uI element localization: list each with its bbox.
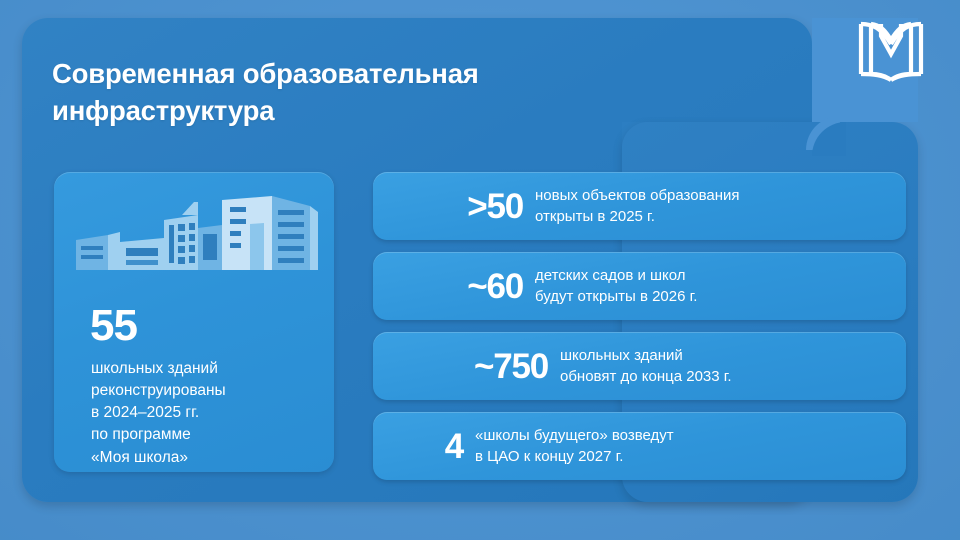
stat-value: >50 — [373, 189, 523, 224]
hero-caption-line-1: школьных зданий — [91, 358, 319, 380]
infographic-canvas: Современная образовательная инфраструкту… — [0, 0, 960, 540]
page-title: Современная образовательная инфраструкту… — [52, 56, 692, 129]
stat-description-line-1: детских садов и школ — [535, 265, 906, 286]
stat-description-line-2: открыты в 2025 г. — [535, 206, 906, 227]
stat-description-line-2: обновят до конца 2033 г. — [560, 366, 906, 387]
stat-description-line-2: в ЦАО к концу 2027 г. — [475, 446, 906, 467]
stat-card[interactable]: >50 новых объектов образования открыты в… — [373, 172, 906, 240]
hero-caption-line-4: по программе — [91, 424, 319, 446]
page-title-line-2: инфраструктура — [52, 95, 274, 126]
stat-description: «школы будущего» возведут в ЦАО к концу … — [463, 425, 906, 468]
stat-card[interactable]: ~60 детских садов и школ будут открыты в… — [373, 252, 906, 320]
stat-value: ~60 — [373, 269, 523, 304]
open-book-m-logo-icon — [853, 14, 929, 86]
stat-description-line-1: «школы будущего» возведут — [475, 425, 906, 446]
stat-description: школьных зданий обновят до конца 2033 г. — [548, 345, 906, 388]
school-building-icon — [72, 194, 322, 280]
stat-card-list: >50 новых объектов образования открыты в… — [373, 172, 906, 480]
hero-stat-caption: школьных зданий реконструированы в 2024–… — [91, 358, 319, 469]
stat-value: 4 — [373, 429, 463, 464]
hero-stat-card[interactable]: 55 школьных зданий реконструированы в 20… — [54, 172, 334, 472]
hero-caption-line-5: «Моя школа» — [91, 447, 319, 469]
stat-value: ~750 — [373, 349, 548, 384]
stat-card[interactable]: 4 «школы будущего» возведут в ЦАО к конц… — [373, 412, 906, 480]
hero-stat-value: 55 — [90, 304, 137, 348]
stat-description: новых объектов образования открыты в 202… — [523, 185, 906, 228]
stat-description: детских садов и школ будут открыты в 202… — [523, 265, 906, 308]
stat-description-line-1: школьных зданий — [560, 345, 906, 366]
page-title-line-1: Современная образовательная — [52, 58, 479, 89]
stat-description-line-2: будут открыты в 2026 г. — [535, 286, 906, 307]
hero-caption-line-3: в 2024–2025 гг. — [91, 402, 319, 424]
stat-description-line-1: новых объектов образования — [535, 185, 906, 206]
stat-card[interactable]: ~750 школьных зданий обновят до конца 20… — [373, 332, 906, 400]
hero-caption-line-2: реконструированы — [91, 380, 319, 402]
